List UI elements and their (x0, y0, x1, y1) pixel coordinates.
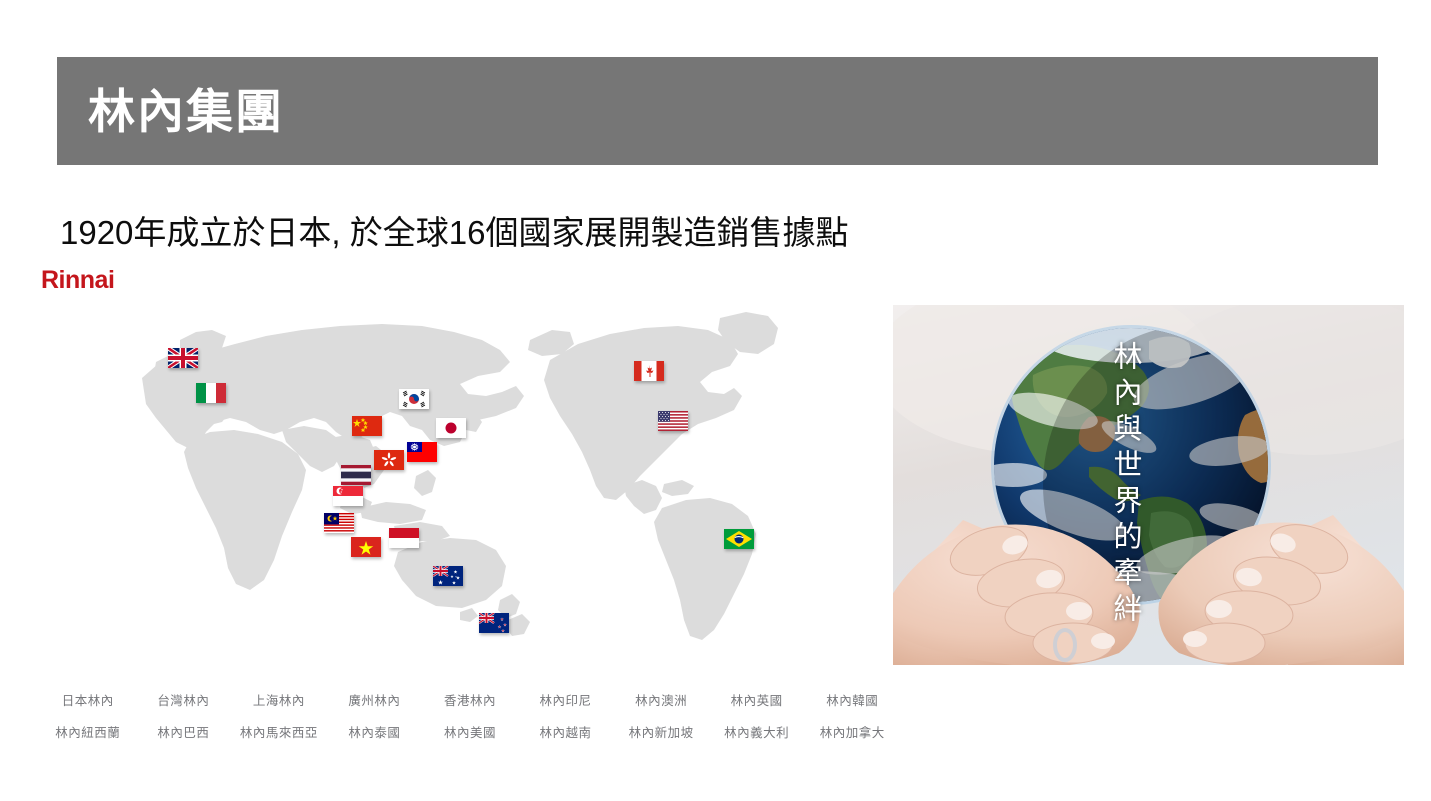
country-label: 林內加拿大 (804, 722, 900, 741)
globe-in-hands-photo: 林內與世界的牽絆 (893, 305, 1404, 665)
map-marker-canada[interactable] (634, 361, 664, 381)
country-label: 香港林內 (422, 690, 518, 709)
rinnai-logo: Rinnai (41, 266, 114, 295)
globe-caption: 林內與世界的牽絆 (1106, 341, 1140, 629)
map-marker-china[interactable] (352, 416, 382, 436)
country-label: 林內泰國 (327, 722, 423, 741)
country-label-grid: 日本林內 台灣林內 上海林內 廣州林內 香港林內 林內印尼 林內澳洲 林內英國 … (40, 690, 900, 741)
map-marker-italy[interactable] (196, 383, 226, 403)
world-map-panel (30, 300, 870, 680)
country-label: 林內巴西 (136, 722, 232, 741)
map-marker-australia[interactable] (433, 566, 463, 586)
map-marker-vietnam[interactable] (351, 537, 381, 557)
country-label: 林內美國 (422, 722, 518, 741)
country-label: 廣州林內 (327, 690, 423, 709)
country-label: 林內馬來西亞 (231, 722, 327, 741)
country-label: 上海林內 (231, 690, 327, 709)
map-marker-singapore[interactable] (333, 486, 363, 506)
map-marker-united-states[interactable] (658, 411, 688, 431)
header-bar: 林內集團 (57, 57, 1378, 165)
map-marker-taiwan[interactable] (407, 442, 437, 462)
map-marker-indonesia[interactable] (389, 528, 419, 548)
country-label: 林內紐西蘭 (40, 722, 136, 741)
country-label: 林內印尼 (518, 690, 614, 709)
country-label: 林內新加坡 (613, 722, 709, 741)
map-marker-thailand[interactable] (341, 465, 371, 485)
map-marker-united-kingdom[interactable] (168, 348, 198, 368)
map-marker-japan[interactable] (436, 418, 466, 438)
country-label: 日本林內 (40, 690, 136, 709)
map-marker-new-zealand[interactable] (479, 613, 509, 633)
country-label: 林內英國 (709, 690, 805, 709)
country-label: 林內越南 (518, 722, 614, 741)
map-marker-brazil[interactable] (724, 529, 754, 549)
country-label: 林內韓國 (804, 690, 900, 709)
subtitle-text: 1920年成立於日本, 於全球16個國家展開製造銷售據點 (60, 206, 848, 254)
map-marker-south-korea[interactable] (399, 389, 429, 409)
country-label: 林內義大利 (709, 722, 805, 741)
globe-photo-graphic (893, 305, 1404, 665)
page-title: 林內集團 (88, 88, 284, 135)
map-marker-hong-kong[interactable] (374, 450, 404, 470)
country-label: 林內澳洲 (613, 690, 709, 709)
map-marker-malaysia[interactable] (324, 513, 354, 533)
world-map-silhouette (30, 300, 870, 680)
country-label: 台灣林內 (136, 690, 232, 709)
